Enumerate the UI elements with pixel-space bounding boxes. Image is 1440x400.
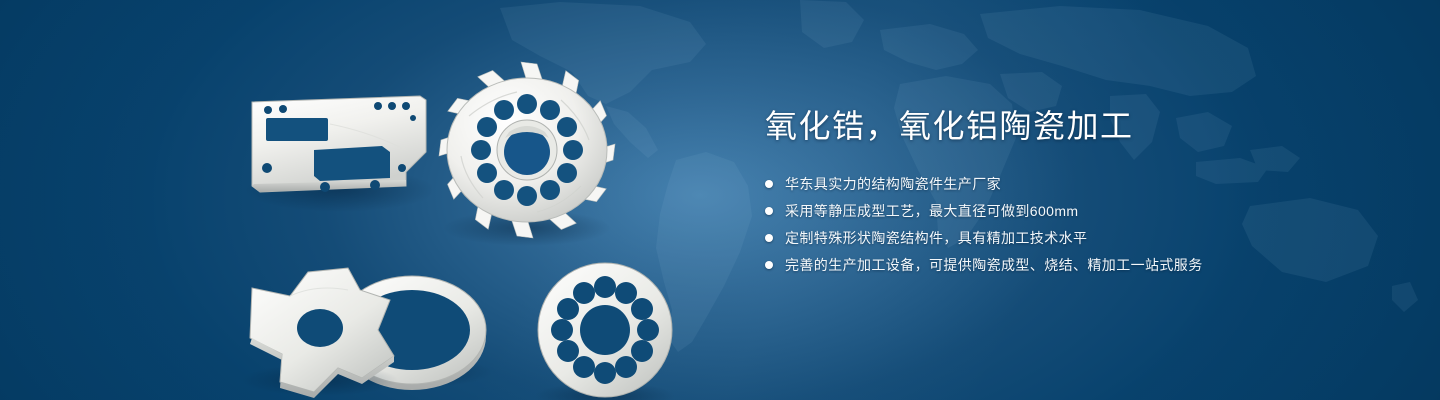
bullet-dot-icon (765, 234, 773, 242)
feature-text: 完善的生产加工设备，可提供陶瓷成型、烧结、精加工一站式服务 (785, 254, 1203, 276)
banner-text-column: 氧化锆，氧化铝陶瓷加工 华东具实力的结构陶瓷件生产厂家 采用等静压成型工艺，最大… (765, 106, 1385, 281)
feature-text: 华东具实力的结构陶瓷件生产厂家 (785, 173, 1001, 195)
bullet-dot-icon (765, 180, 773, 188)
ceramic-flange-part (535, 263, 675, 400)
feature-list-item: 采用等静压成型工艺，最大直径可做到600mm (765, 200, 1385, 222)
feature-text: 定制特殊形状陶瓷结构件，具有精加工技术水平 (785, 227, 1087, 249)
ceramic-impeller-part (439, 62, 615, 246)
ceramic-plate-part (245, 96, 435, 212)
feature-text: 采用等静压成型工艺，最大直径可做到600mm (785, 200, 1078, 222)
banner-feature-list: 华东具实力的结构陶瓷件生产厂家 采用等静压成型工艺，最大直径可做到600mm 定… (765, 173, 1385, 276)
hero-banner: 氧化锆，氧化铝陶瓷加工 华东具实力的结构陶瓷件生产厂家 采用等静压成型工艺，最大… (0, 0, 1440, 400)
bullet-dot-icon (765, 261, 773, 269)
banner-headline: 氧化锆，氧化铝陶瓷加工 (765, 106, 1385, 146)
bullet-dot-icon (765, 207, 773, 215)
ceramic-products-image (230, 40, 730, 390)
feature-list-item: 华东具实力的结构陶瓷件生产厂家 (765, 173, 1385, 195)
feature-list-item: 完善的生产加工设备，可提供陶瓷成型、烧结、精加工一站式服务 (765, 254, 1385, 276)
feature-list-item: 定制特殊形状陶瓷结构件，具有精加工技术水平 (765, 227, 1385, 249)
